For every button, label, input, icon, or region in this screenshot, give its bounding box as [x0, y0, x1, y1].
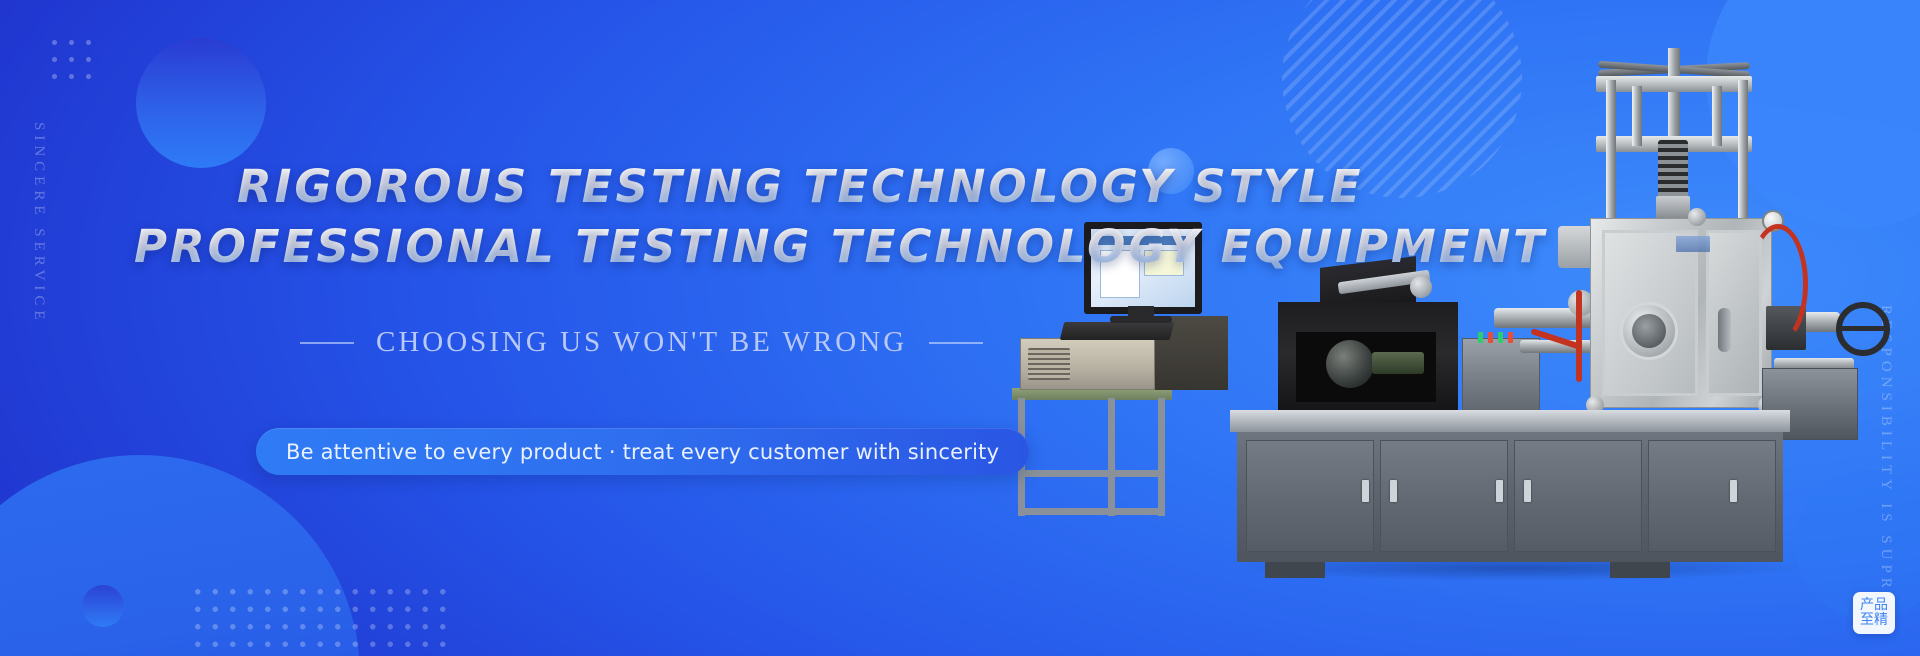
cabinet-handle[interactable]: [1730, 480, 1737, 502]
cabinet-door[interactable]: [1380, 440, 1508, 552]
tower-column: [1738, 80, 1748, 222]
optics-barrel: [1372, 352, 1424, 374]
headline-block: RIGOROUS TESTING TECHNOLOGY STYLE PROFES…: [0, 0, 1180, 656]
headline-line-1: RIGOROUS TESTING TECHNOLOGY STYLE: [237, 160, 1364, 213]
cabinet-handle[interactable]: [1390, 480, 1397, 502]
quality-badge-line-1: 产品: [1860, 598, 1888, 613]
red-hose: [1748, 224, 1808, 344]
cabinet-handle[interactable]: [1362, 480, 1369, 502]
bench-foot: [1265, 562, 1325, 578]
subheadline-rule-left: [300, 342, 354, 344]
optics-pivot: [1410, 276, 1432, 298]
chamber-viewport-glass: [1632, 314, 1666, 348]
tower-column: [1632, 86, 1642, 146]
hero-banner: SINCERE SERVICE RESPONSIBILITY IS SUPREM…: [0, 0, 1920, 656]
optics-lens: [1326, 340, 1374, 388]
cabinet-door[interactable]: [1246, 440, 1374, 552]
tower-column: [1712, 86, 1722, 146]
chamber-knob: [1688, 208, 1706, 226]
bench-worktop: [1230, 410, 1790, 432]
status-led: [1508, 332, 1513, 343]
subheadline-rule-right: [929, 342, 983, 344]
chamber-door-handle: [1718, 308, 1731, 352]
cabinet-handle[interactable]: [1496, 480, 1503, 502]
cabinet-door[interactable]: [1648, 440, 1776, 552]
cabinet-handle[interactable]: [1524, 480, 1531, 502]
tower-column: [1606, 80, 1616, 222]
tagline-pill[interactable]: Be attentive to every product · treat ev…: [256, 428, 1029, 475]
tagline-pill-text: Be attentive to every product · treat ev…: [286, 440, 999, 464]
quality-badge-line-2: 至精: [1860, 613, 1888, 628]
tower-shaft: [1668, 48, 1680, 144]
subheadline: CHOOSING US WON'T BE WRONG: [300, 326, 983, 359]
tower-plate: [1596, 76, 1752, 92]
cabinet-door[interactable]: [1514, 440, 1642, 552]
product-image: [1090, 40, 1890, 600]
status-led: [1488, 332, 1493, 343]
status-led: [1478, 332, 1483, 343]
quality-badge[interactable]: 产品 至精: [1853, 592, 1895, 634]
status-led: [1498, 332, 1503, 343]
bench-foot: [1610, 562, 1670, 578]
tower-spring: [1658, 140, 1688, 198]
chamber-brand-plate: [1676, 236, 1710, 252]
handwheel-spoke: [1838, 326, 1888, 331]
headline-line-2: PROFESSIONAL TESTING TECHNOLOGY EQUIPMEN…: [134, 220, 1547, 273]
red-hose: [1576, 290, 1582, 382]
subheadline-text: CHOOSING US WON'T BE WRONG: [376, 326, 907, 359]
